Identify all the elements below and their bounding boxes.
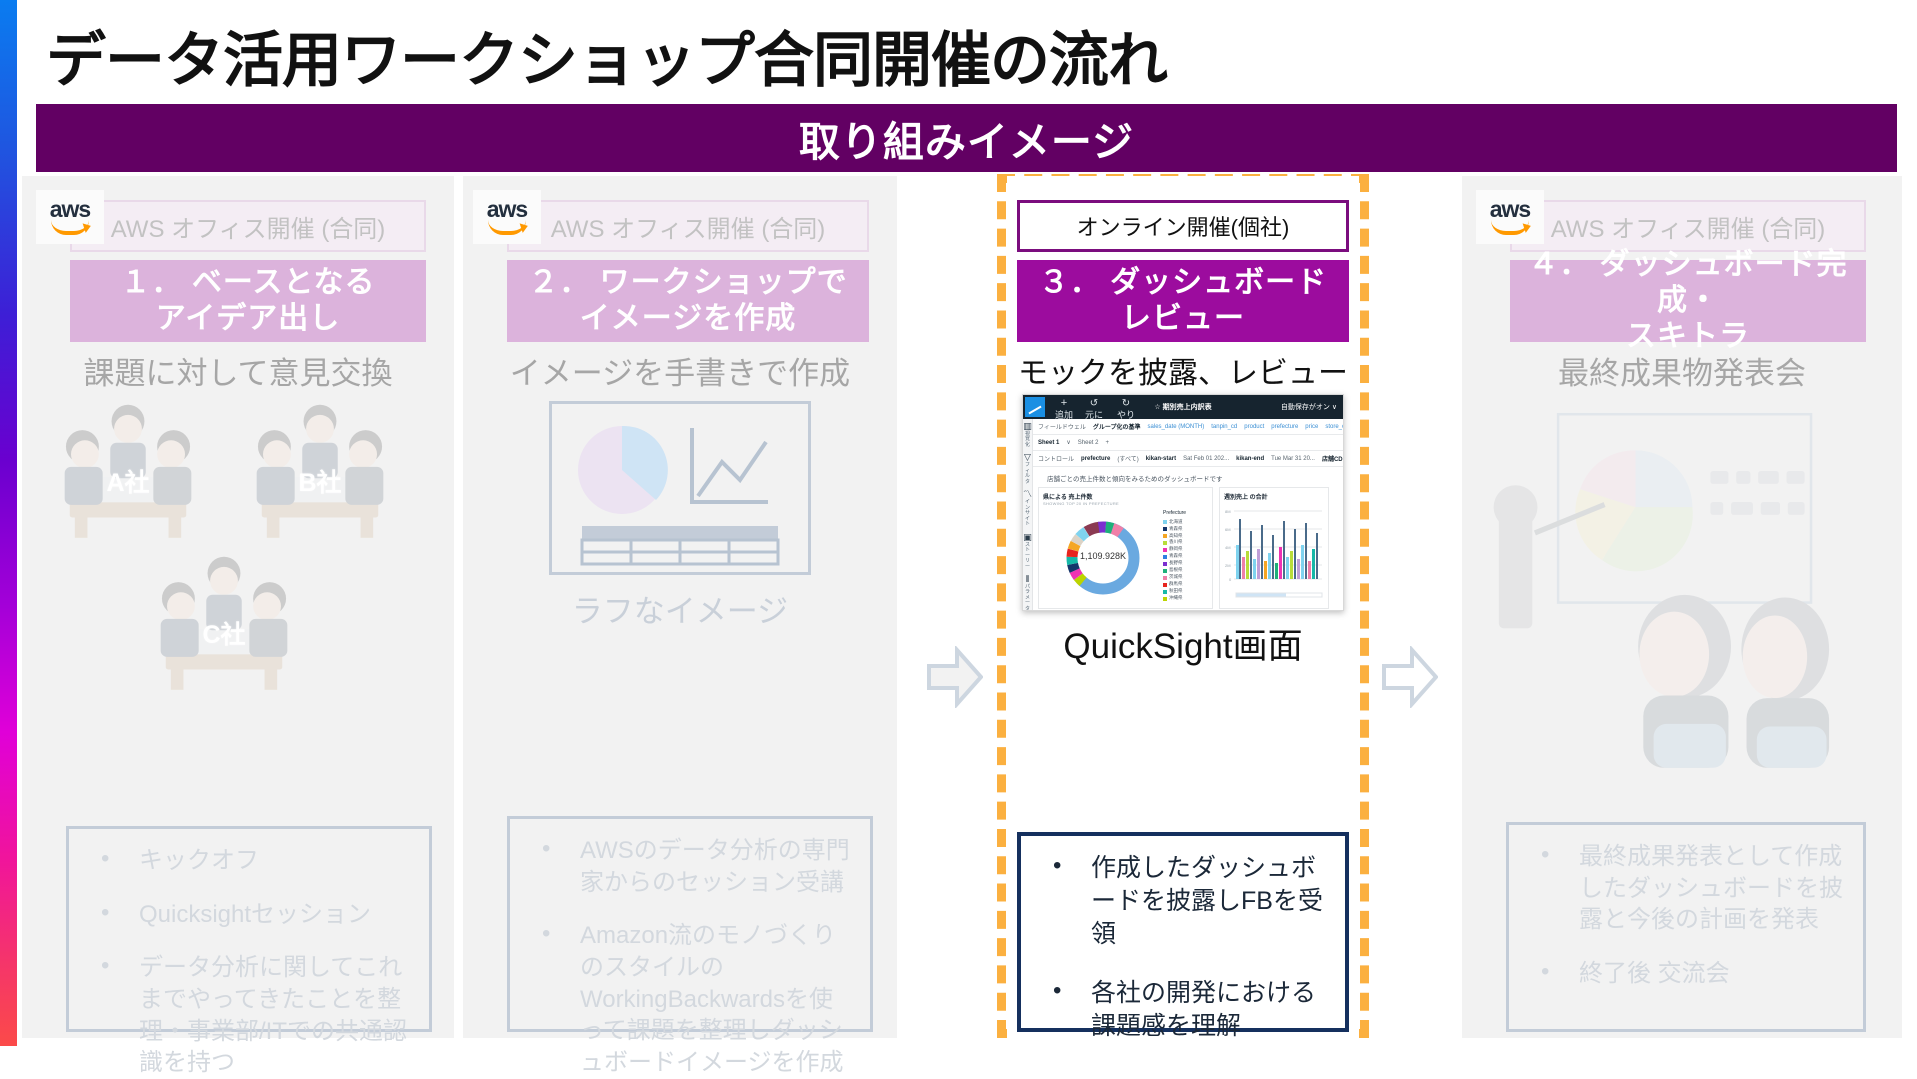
list-item: Quicksightセッション — [83, 899, 415, 931]
svg-text:4M: 4M — [1225, 545, 1231, 550]
donut-chart-card: 県による 売上件数 SHOWING TOP 20 IN PREFECTURE — [1038, 487, 1213, 609]
bar-chart: 8M6M 4M2M0 — [1224, 501, 1324, 599]
step-column-1: aws AWS オフィス開催 (合同) １． ベースとなる アイデア出し 課題に… — [22, 176, 454, 1038]
fieldwell-row: フィールドウェル グループ化の基準 sales_date (MONTH) tan… — [1033, 419, 1344, 435]
tab-sheet-2[interactable]: Sheet 2 — [1078, 440, 1099, 446]
donut-legend: Prefecture 北海道 青森県 高知県 香川県 静岡県 青森県 長野県 島… — [1163, 510, 1186, 602]
step-column-4: aws AWS オフィス開催 (合同) ４． ダッシュボード完成・ スキトラ 最… — [1462, 176, 1902, 1038]
bullet-panel-3: 作成したダッシュボードを披露しFBを受領 各社の開発における課題感を理解 — [1017, 832, 1349, 1032]
field-chip[interactable]: price — [1305, 424, 1318, 430]
venue-chip-2: AWS オフィス開催 (合同) — [507, 200, 869, 252]
list-item: 最終成果発表として作成したダッシュボードを披露と今後の計画を発表 — [1523, 841, 1849, 936]
aws-logo-icon: aws — [1476, 190, 1544, 244]
aws-logo-icon: aws — [36, 190, 104, 244]
field-chip[interactable]: sales_date (MONTH) — [1148, 424, 1205, 430]
step-heading-3: ３． ダッシュボード レビュー — [1017, 260, 1349, 342]
dashboard-description: 店舗ごとの売上件数と傾向をみるためのダッシュボードです — [1033, 467, 1344, 487]
controls-row: コントロール prefecture (すべて) kikan-start Sat … — [1033, 451, 1344, 467]
illustration-presentation — [1462, 391, 1902, 811]
bullet-panel-1: キックオフ Quicksightセッション データ分析に関してこれまでやってきた… — [66, 826, 432, 1032]
section-banner-label: 取り組みイメージ — [36, 104, 1897, 172]
list-item: AWSのデータ分析の専門家からのセッション受講 — [524, 835, 856, 898]
list-item: データ分析に関してこれまでやってきたことを整理・事業部/ITでの共通認識を持つ — [83, 952, 415, 1079]
star-icon[interactable]: ☆ — [1154, 404, 1160, 411]
list-item: キックオフ — [83, 845, 415, 877]
list-item: 作成したダッシュボードを披露しFBを受領 — [1035, 852, 1331, 951]
rough-dashboard-frame — [549, 401, 811, 575]
quicksight-toolbar: + 追加 ↺ 元に戻す ↻ やり直す ☆ 期別売上内訳表 自動保存がオン ∨ — [1023, 395, 1343, 419]
venue-chip-4: AWS オフィス開催 (合同) — [1510, 200, 1866, 252]
svg-text:8M: 8M — [1225, 509, 1231, 514]
flow-arrow-2 — [927, 646, 983, 708]
sidebar-item-insight[interactable]: 〽 インサイト — [1023, 490, 1032, 527]
chevron-down-icon[interactable]: ∨ — [1066, 439, 1070, 446]
bar-chart-card: 週別売上 の合計 8M6M 4M2M0 — [1219, 487, 1329, 609]
sidebar-item-visualize[interactable]: ▥ 視覚化 — [1023, 422, 1032, 448]
company-group-b: B社 — [244, 401, 396, 553]
list-item: 終了後 交流会 — [1523, 958, 1849, 990]
quicksight-screenshot[interactable]: + 追加 ↺ 元に戻す ↻ やり直す ☆ 期別売上内訳表 自動保存がオン ∨ — [1022, 394, 1344, 611]
quicksight-caption: QuickSight画面 — [1007, 618, 1359, 669]
flow-arrow-3 — [1382, 646, 1438, 708]
step-column-3: オンライン開催(個社) ３． ダッシュボード レビュー モックを披露、レビュー … — [1007, 176, 1359, 1038]
presentation-scene-icon — [1462, 391, 1902, 791]
step-heading-2: ２． ワークショップで イメージを作成 — [507, 260, 869, 342]
illustration-rough-sketch: ラフなイメージ — [463, 401, 897, 801]
svg-text:0: 0 — [1229, 577, 1232, 582]
sidebar-item-story[interactable]: ▣ ストーリー — [1023, 533, 1032, 570]
company-group-c: C社 — [148, 553, 300, 705]
step-heading-4: ４． ダッシュボード完成・ スキトラ — [1510, 260, 1866, 342]
field-chip[interactable]: product — [1244, 424, 1264, 430]
add-sheet-button[interactable]: + — [1105, 440, 1109, 446]
svg-text:2M: 2M — [1225, 563, 1231, 568]
sidebar-item-filter[interactable]: ▽ フィルタ — [1023, 453, 1032, 485]
donut-center-value: 1,109.928K — [1043, 551, 1163, 561]
tab-sheet-1[interactable]: Sheet 1 — [1038, 440, 1059, 446]
bullet-panel-4: 最終成果発表として作成したダッシュボードを披露と今後の計画を発表 終了後 交流会 — [1506, 822, 1866, 1032]
aws-logo-icon: aws — [473, 190, 541, 244]
step-column-2: aws AWS オフィス開催 (合同) ２． ワークショップで イメージを作成 … — [463, 176, 897, 1038]
sidebar-item-parameter[interactable]: ⦀ パラメータ — [1023, 575, 1032, 611]
left-accent-bar — [0, 0, 17, 1046]
workflow-board: aws AWS オフィス開催 (合同) １． ベースとなる アイデア出し 課題に… — [22, 176, 1902, 1038]
step-heading-1: １． ベースとなる アイデア出し — [70, 260, 426, 342]
step-caption-4: 最終成果物発表会 — [1462, 348, 1902, 393]
section-banner: 取り組みイメージ — [36, 104, 1897, 172]
step-caption-3: モックを披露、レビュー — [1007, 348, 1359, 392]
rough-sketch-caption: ラフなイメージ — [463, 586, 897, 631]
step-caption-1: 課題に対して意見交換 — [22, 348, 454, 393]
company-group-a: A社 — [52, 401, 204, 553]
venue-chip-3: オンライン開催(個社) — [1017, 200, 1349, 252]
field-chip[interactable]: tanpin_cd — [1211, 424, 1237, 430]
quicksight-sidebar: ▥ 視覚化 ▽ フィルタ 〽 インサイト ▣ ストーリー — [1023, 419, 1033, 610]
list-item: 各社の開発における課題感を理解 — [1035, 977, 1331, 1043]
field-chip[interactable]: store_cd — [1325, 424, 1344, 430]
autosave-status[interactable]: 自動保存がオン ∨ — [1281, 402, 1337, 412]
svg-text:6M: 6M — [1225, 527, 1231, 532]
field-chip[interactable]: prefecture — [1271, 424, 1298, 430]
venue-chip-1: AWS オフィス開催 (合同) — [70, 200, 426, 252]
step-caption-2: イメージを手書きで作成 — [463, 348, 897, 393]
illustration-company-groups: A社 B社 — [22, 401, 454, 801]
sheet-tabs: Sheet 1 ∨ Sheet 2 + — [1033, 435, 1344, 451]
pie-line-table-icon — [552, 404, 808, 572]
bullet-panel-2: AWSのデータ分析の専門家からのセッション受講 Amazon流のモノづくりのスタ… — [507, 816, 873, 1032]
list-item: Amazon流のモノづくりのスタイルのWorkingBackwardsを使って課… — [524, 920, 856, 1078]
page-title: データ活用ワークショップ合同開催の流れ — [46, 12, 1167, 99]
